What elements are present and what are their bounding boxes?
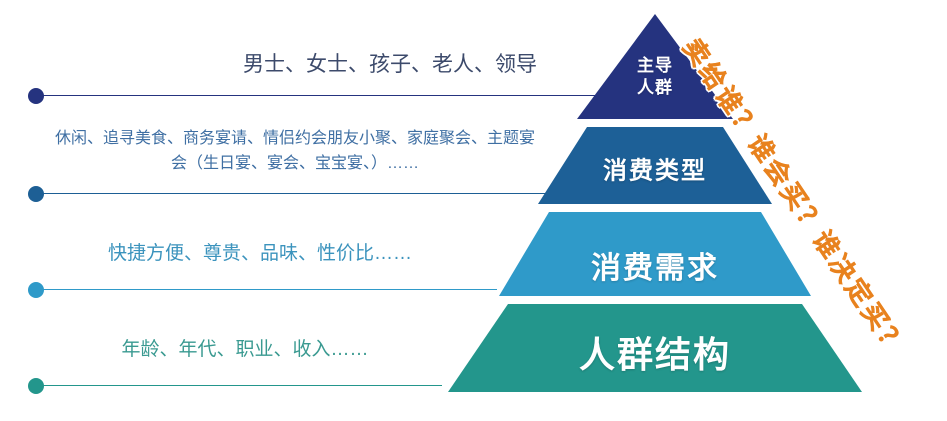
annotation-text-3: 快捷方便、尊贵、品味、性价比…… (60, 241, 460, 267)
annotation-dot-2 (28, 186, 44, 202)
annotation-text-2: 休闲、追寻美食、商务宴请、情侣约会朋友小聚、家庭聚会、主题宴会（生日宴、宴会、宝… (55, 126, 535, 176)
annotation-line-3 (42, 289, 497, 290)
pyramid-infographic: 主导 人群 消费类型 消费需求 人群结构 男士、女士、孩子、老人、领导 休闲、追… (0, 0, 947, 421)
pyramid-tier-1-label: 主导 人群 (637, 55, 673, 99)
annotation-line-2 (42, 193, 547, 194)
pyramid-tier-1-label-line1: 主导 (637, 55, 673, 77)
pyramid-tier-3-label: 消费需求 (591, 243, 719, 287)
annotation-text-1: 男士、女士、孩子、老人、领导 (180, 52, 600, 78)
annotation-line-1 (42, 95, 595, 96)
annotation-dot-4 (28, 378, 44, 394)
pyramid-tier-1-label-line2: 人群 (637, 77, 673, 99)
pyramid-tier-4-label: 人群结构 (579, 326, 731, 378)
annotation-text-4: 年龄、年代、职业、收入…… (75, 337, 415, 363)
annotation-dot-3 (28, 282, 44, 298)
pyramid-tier-2-label: 消费类型 (603, 151, 707, 186)
annotation-line-4 (42, 385, 442, 386)
annotation-dot-1 (28, 88, 44, 104)
